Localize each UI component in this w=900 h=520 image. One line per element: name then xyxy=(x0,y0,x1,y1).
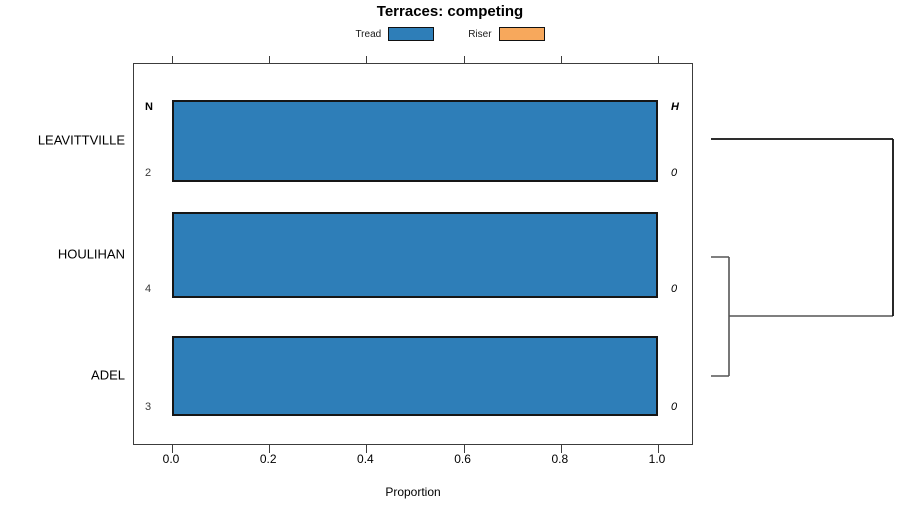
legend-entry-tread: Tread xyxy=(355,27,434,41)
x-axis-title: Proportion xyxy=(133,485,693,499)
legend-label-riser: Riser xyxy=(468,29,491,40)
plot-panel xyxy=(133,63,693,445)
bar-segment-tread-houlihan xyxy=(172,212,658,298)
bar-segment-tread-leavittville xyxy=(172,100,658,182)
category-label-adel: ADEL xyxy=(0,368,125,383)
x-tick-top-0.6 xyxy=(464,56,465,64)
bar-segment-tread-adel xyxy=(172,336,658,416)
x-tick-label-0.4: 0.4 xyxy=(357,452,374,466)
legend-swatch-tread xyxy=(388,27,434,41)
x-tick-label-0.8: 0.8 xyxy=(551,452,568,466)
chart-legend: Tread Riser xyxy=(0,27,900,41)
x-tick-top-1.0 xyxy=(658,56,659,64)
chart-root: Terraces: competing Tread Riser LEAVITTV… xyxy=(0,0,900,520)
legend-swatch-riser xyxy=(499,27,545,41)
x-tick-label-0.2: 0.2 xyxy=(260,452,277,466)
dendrogram xyxy=(700,63,900,445)
x-tick-label-1.0: 1.0 xyxy=(649,452,666,466)
x-tick-label-0.0: 0.0 xyxy=(163,452,180,466)
legend-entry-riser: Riser xyxy=(468,27,544,41)
dendrogram-root-links xyxy=(711,139,893,316)
legend-label-tread: Tread xyxy=(355,29,381,40)
dendrogram-links xyxy=(711,257,893,376)
category-label-houlihan: HOULIHAN xyxy=(0,247,125,262)
category-label-leavittville: LEAVITTVILLE xyxy=(0,133,125,148)
x-tick-top-0.4 xyxy=(366,56,367,64)
x-tick-top-0.2 xyxy=(269,56,270,64)
chart-title: Terraces: competing xyxy=(0,3,900,20)
x-tick-top-0.8 xyxy=(561,56,562,64)
x-tick-top-0.0 xyxy=(172,56,173,64)
x-tick-label-0.6: 0.6 xyxy=(454,452,471,466)
dendrogram-svg xyxy=(700,63,900,445)
